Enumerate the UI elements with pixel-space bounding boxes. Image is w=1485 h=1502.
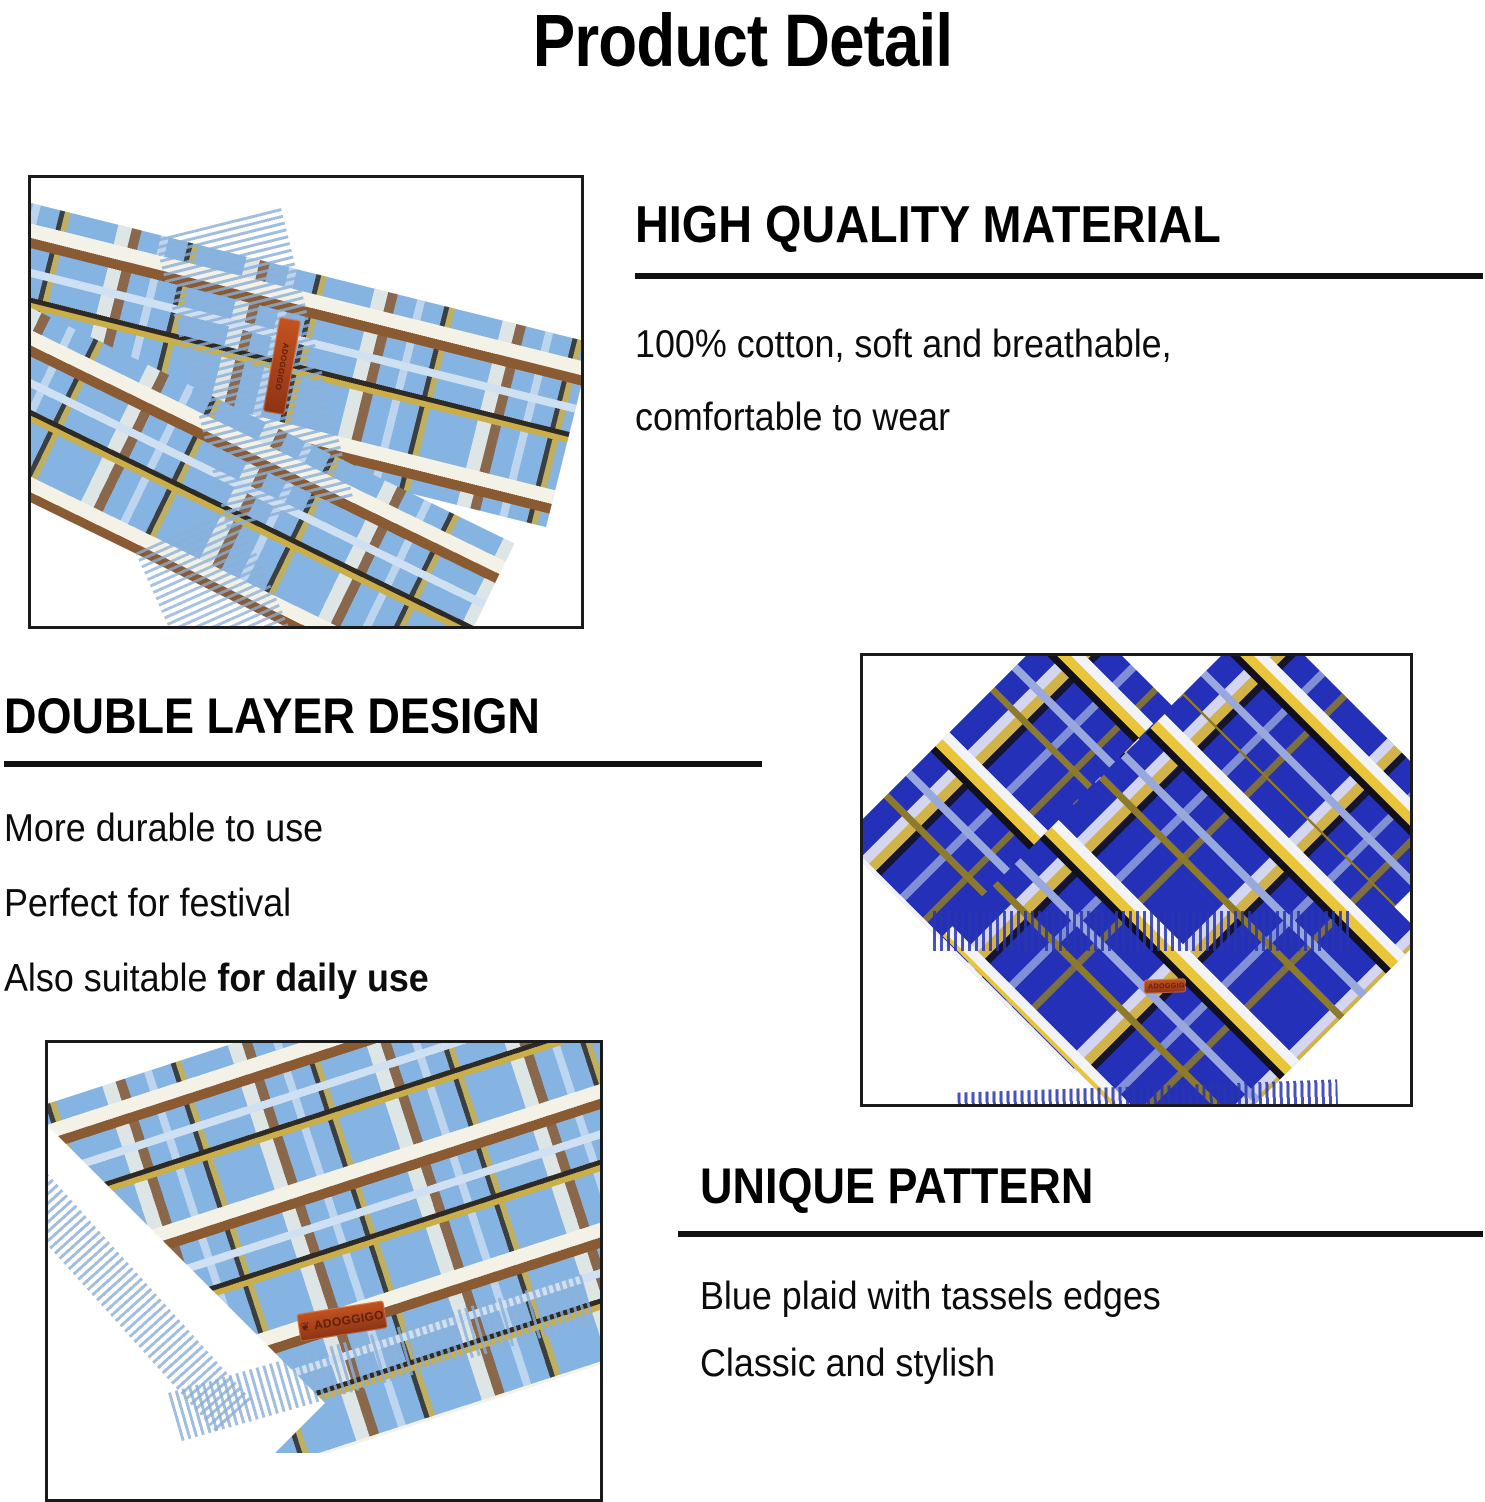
feature-line-list: 100% cotton, soft and breathable, comfor… <box>635 325 1485 437</box>
feature-line: More durable to use <box>4 809 705 848</box>
feature-line-list: Blue plaid with tassels edges Classic an… <box>700 1277 1485 1383</box>
paw-print-icon: ❦ <box>1144 983 1146 990</box>
heading-divider <box>4 761 762 767</box>
paw-print-icon: ❦ <box>299 1320 311 1333</box>
feature-line: Blue plaid with tassels edges <box>700 1277 1422 1316</box>
feature-line: Perfect for festival <box>4 884 705 923</box>
feature-heading-pattern: UNIQUE PATTERN <box>700 1160 1407 1213</box>
feature-line: 100% cotton, soft and breathable, <box>635 325 1417 364</box>
folded-scarf-photo: ADOGGIGO <box>31 178 581 626</box>
blue-bandana-photo-frame: ❦ ADOGGIGO <box>860 653 1413 1107</box>
feature-line: Classic and stylish <box>700 1344 1422 1383</box>
feature-block-pattern: UNIQUE PATTERN Blue plaid with tassels e… <box>700 1160 1485 1411</box>
feature-line-list: More durable to use Perfect for festival… <box>4 809 766 998</box>
feature-line-emphasis: for daily use <box>217 957 428 1000</box>
feature-heading-material: HIGH QUALITY MATERIAL <box>635 198 1400 253</box>
plaid-corner-photo-frame: ❦ ADOGGIGO <box>45 1040 603 1502</box>
brand-leather-tag: ❦ ADOGGIGO <box>1144 978 1186 993</box>
brand-tag-label: ADOGGIGO <box>1148 982 1186 990</box>
brand-tag-label: ADOGGIGO <box>273 342 290 391</box>
plaid-corner-photo: ❦ ADOGGIGO <box>48 1043 600 1499</box>
page-title: Product Detail <box>104 4 1381 78</box>
feature-line: comfortable to wear <box>635 398 1417 437</box>
feature-line: Also suitable for daily use <box>4 959 705 998</box>
photo-backdrop <box>48 1453 600 1499</box>
feature-line-plain: Also suitable <box>4 957 217 1000</box>
heading-divider <box>678 1231 1483 1237</box>
brand-tag-label: ADOGGIGO <box>313 1307 385 1332</box>
feature-heading-double-layer: DOUBLE LAYER DESIGN <box>4 690 690 743</box>
fringe-edge <box>933 911 1353 951</box>
feature-block-material: HIGH QUALITY MATERIAL 100% cotton, soft … <box>635 198 1485 471</box>
feature-block-double-layer: DOUBLE LAYER DESIGN More durable to use … <box>4 690 766 1034</box>
heading-divider <box>635 273 1483 279</box>
blue-bandana-photo: ❦ ADOGGIGO <box>863 656 1410 1104</box>
folded-scarf-photo-frame: ADOGGIGO <box>28 175 584 629</box>
